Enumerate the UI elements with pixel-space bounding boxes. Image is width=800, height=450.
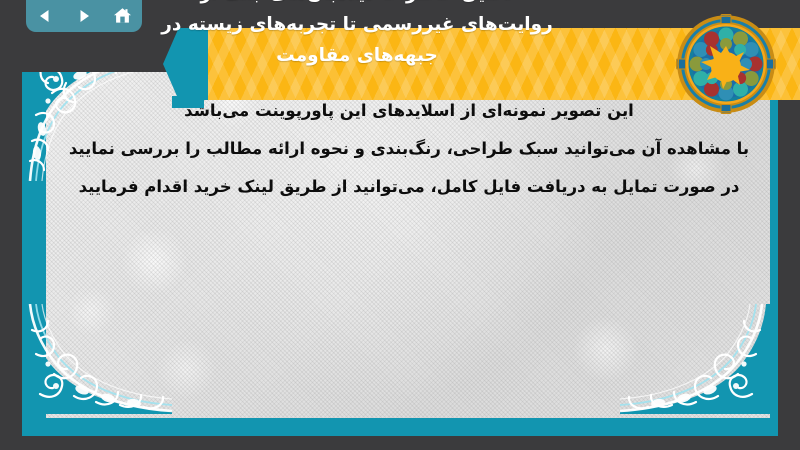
home-icon bbox=[113, 7, 132, 25]
next-slide-button[interactable] bbox=[70, 3, 98, 29]
triangle-right-icon bbox=[76, 8, 92, 24]
slide-navigation-bar bbox=[26, 0, 142, 32]
teal-bottom-border bbox=[22, 418, 778, 436]
islamic-medallion-icon bbox=[676, 14, 776, 114]
previous-slide-button[interactable] bbox=[31, 3, 59, 29]
teal-left-border bbox=[22, 46, 46, 436]
triangle-left-icon bbox=[37, 8, 53, 24]
slide-body-text: این تصویر نمونه‌ای از اسلایدهای این پاور… bbox=[52, 92, 766, 206]
title-line-3: جبهه‌های مقاومت bbox=[0, 40, 714, 71]
home-button[interactable] bbox=[109, 3, 137, 29]
body-line-3: در صورت تمایل به دریافت فایل کامل، می‌تو… bbox=[52, 168, 766, 206]
body-line-2: با مشاهده آن می‌توانید سبک طراحی، رنگ‌بن… bbox=[52, 130, 766, 168]
presentation-slide: این تصویر نمونه‌ای از اسلایدهای این پاور… bbox=[0, 0, 800, 450]
